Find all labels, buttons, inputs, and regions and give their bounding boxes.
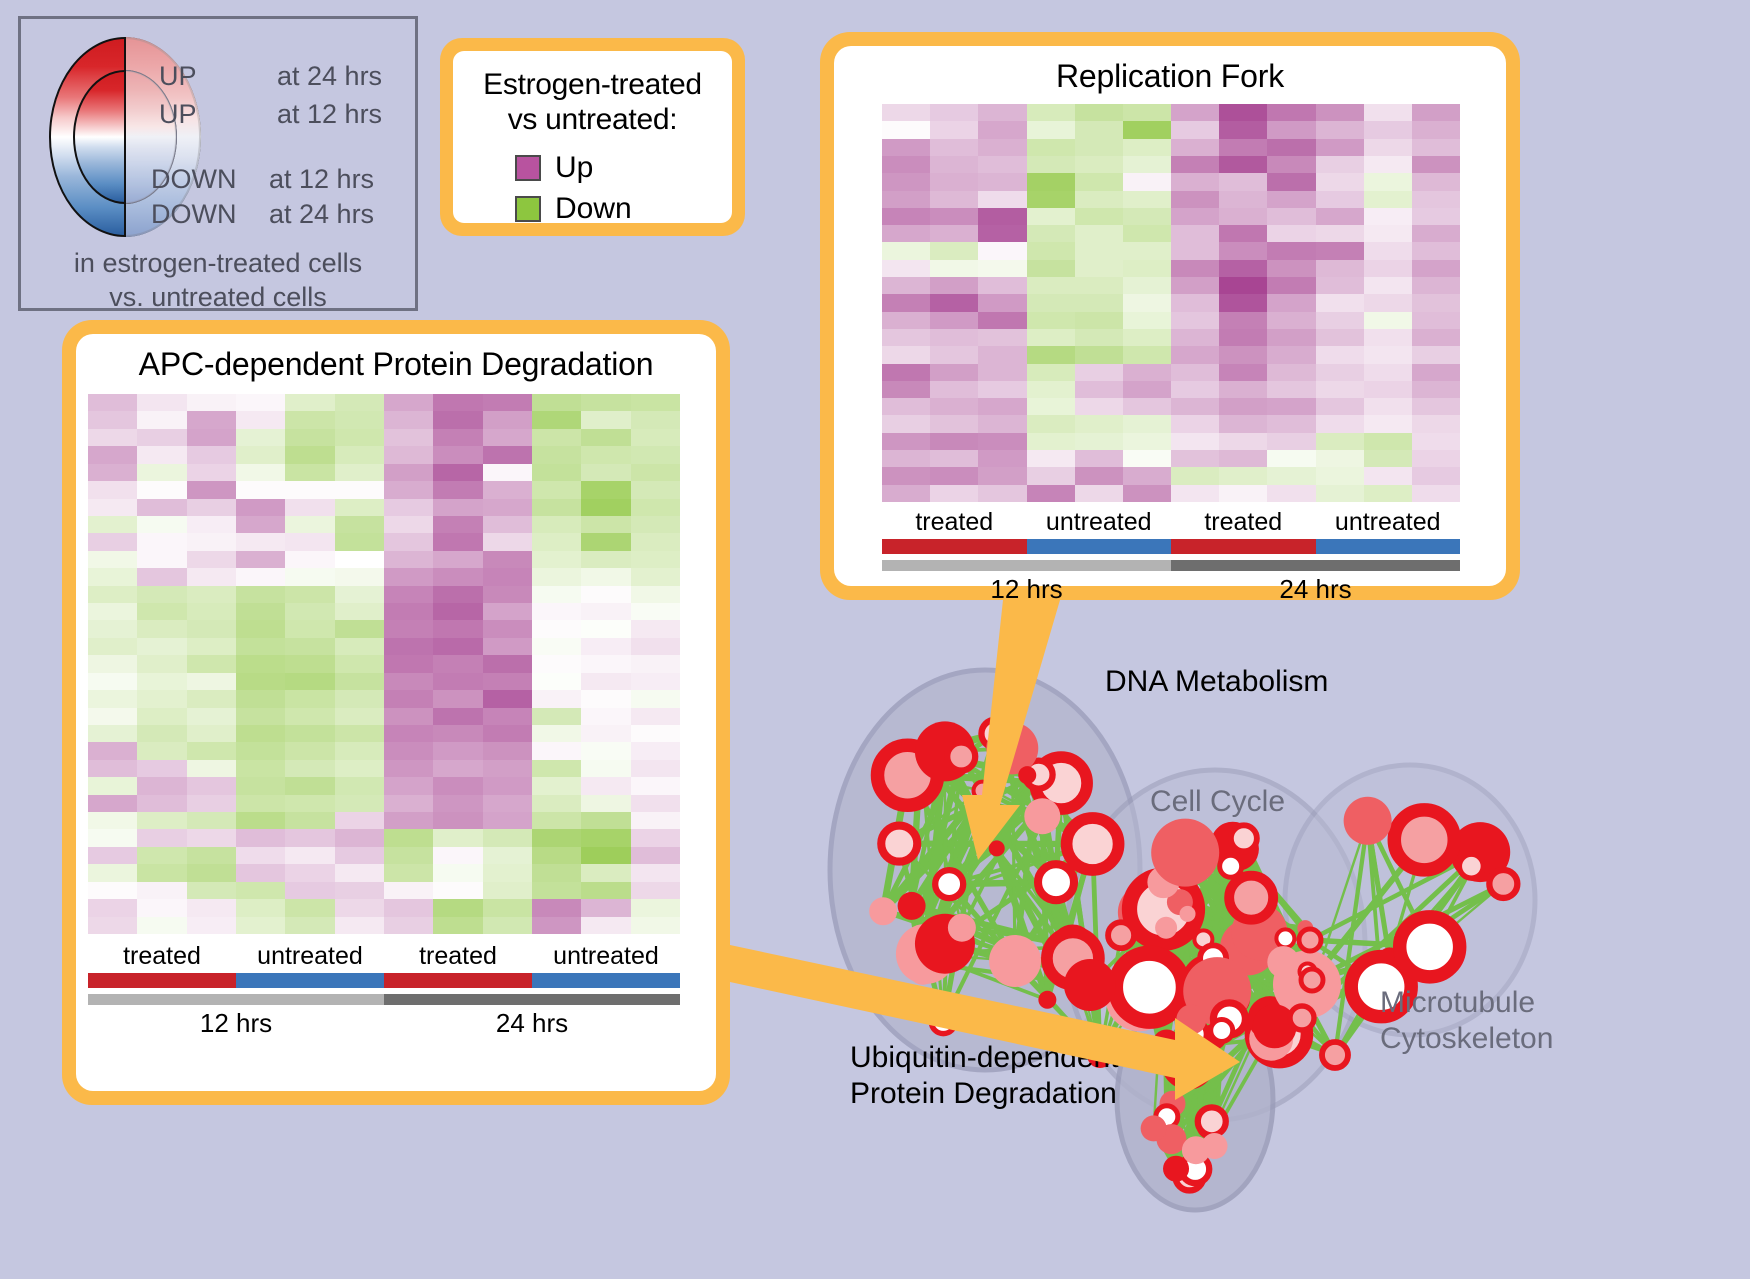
heatmap-cell — [384, 464, 433, 481]
heatmap-cell — [1412, 139, 1460, 156]
heatmap-cell — [384, 620, 433, 637]
cluster-label-cell-cycle: Cell Cycle — [1150, 785, 1285, 819]
heatmap-cell — [1364, 104, 1412, 121]
heatmap-cell — [88, 812, 137, 829]
heatmap-cell — [1412, 312, 1460, 329]
heatmap-cell — [1364, 139, 1412, 156]
heatmap-cell — [532, 446, 581, 463]
heatmap-cell — [1171, 450, 1219, 467]
heatmap-cell — [88, 742, 137, 759]
heatmap-cell — [631, 847, 680, 864]
heatmap-cell — [1171, 329, 1219, 346]
heatmap-cell — [187, 411, 236, 428]
heatmap-cell — [532, 568, 581, 585]
heatmap-cell — [1027, 242, 1075, 259]
heatmap-cell — [285, 551, 334, 568]
heatmap-cell — [978, 156, 1026, 173]
network-node[interactable] — [1400, 917, 1460, 977]
heatmap-cell — [384, 655, 433, 672]
heatmap-cell — [930, 415, 978, 432]
heatmap-cell — [137, 533, 186, 550]
heatmap-cell — [137, 411, 186, 428]
sample-label: untreated — [1027, 508, 1172, 537]
heatmap-cell — [532, 411, 581, 428]
heatmap-cell — [137, 725, 186, 742]
heatmap-cell — [1219, 329, 1267, 346]
heatmap-cell — [187, 777, 236, 794]
heatmap-cell — [433, 516, 482, 533]
heatmap-cell — [236, 411, 285, 428]
time-colorbar — [882, 560, 1460, 571]
heatmap-cell — [1412, 294, 1460, 311]
heatmap-cell — [1075, 450, 1123, 467]
network-node[interactable] — [1301, 969, 1323, 991]
heatmap-cell — [285, 708, 334, 725]
heatmap-cell — [1316, 467, 1364, 484]
network-node[interactable] — [1155, 917, 1177, 939]
heatmap-cell — [483, 812, 532, 829]
heatmap-cell — [581, 394, 630, 411]
heatmap-cell — [978, 104, 1026, 121]
network-node[interactable] — [1018, 766, 1036, 784]
cluster-label-dna-metabolism: DNA Metabolism — [1105, 665, 1328, 699]
heatmap-cell — [532, 690, 581, 707]
heatmap-cell — [1075, 121, 1123, 138]
network-node[interactable] — [1038, 991, 1056, 1009]
heatmap-cell — [1364, 433, 1412, 450]
heatmap-cell — [433, 464, 482, 481]
colorwheel-divider — [124, 37, 126, 237]
heatmap-cell — [532, 655, 581, 672]
heatmap-cell — [137, 795, 186, 812]
network-node[interactable] — [1141, 1115, 1167, 1141]
heatmap-cell — [978, 277, 1026, 294]
heatmap-cell — [1123, 121, 1171, 138]
heatmap-cell — [1171, 225, 1219, 242]
heatmap-cell — [1219, 242, 1267, 259]
heatmap-cell — [930, 346, 978, 363]
updown-key-inner: Estrogen-treated vs untreated: Up Down — [453, 51, 732, 223]
heatmap-cell — [581, 533, 630, 550]
heatmap-cell — [978, 364, 1026, 381]
cluster-label-line1: Microtubule — [1380, 985, 1553, 1021]
network-node[interactable] — [947, 743, 975, 771]
heatmap-cell — [631, 429, 680, 446]
heatmap-cell — [1364, 398, 1412, 415]
network-node[interactable] — [1229, 876, 1273, 920]
heatmap-cell — [433, 481, 482, 498]
heatmap-cell — [137, 620, 186, 637]
heatmap-cell — [1075, 346, 1123, 363]
heatmap-cell — [433, 829, 482, 846]
heatmap-cell — [384, 795, 433, 812]
network-node[interactable] — [948, 914, 976, 942]
heatmap-cell — [137, 673, 186, 690]
network-node[interactable] — [1108, 922, 1134, 948]
heatmap-cell — [581, 464, 630, 481]
heatmap-cell — [88, 568, 137, 585]
heatmap-cell — [335, 795, 384, 812]
heatmap-cell — [285, 673, 334, 690]
time-colorbar — [88, 994, 680, 1005]
heatmap-cell — [88, 847, 137, 864]
heatmap-cell — [335, 586, 384, 603]
heatmap-cell — [483, 847, 532, 864]
heatmap-cell — [137, 586, 186, 603]
heatmap-cell — [433, 742, 482, 759]
heatmap-cell — [1364, 294, 1412, 311]
colormap-legend-box: UPat 24 hrs UPat 12 hrs DOWNat 12 hrs DO… — [18, 16, 418, 311]
heatmap-cell — [1219, 260, 1267, 277]
heatmap-cell — [88, 638, 137, 655]
heatmap-cell — [882, 364, 930, 381]
heatmap-cell — [978, 381, 1026, 398]
heatmap-cell — [532, 829, 581, 846]
heatmap-cell — [88, 551, 137, 568]
heatmap-cell — [581, 603, 630, 620]
heatmap-cell — [930, 381, 978, 398]
network-node[interactable] — [1344, 797, 1392, 845]
heatmap-cell — [1027, 294, 1075, 311]
network-node[interactable] — [1163, 1156, 1189, 1182]
heatmap-cell — [1316, 415, 1364, 432]
heatmap-cell — [1364, 156, 1412, 173]
heatmap-cell — [285, 516, 334, 533]
network-node[interactable] — [974, 782, 992, 800]
network-node[interactable] — [931, 1010, 955, 1034]
heatmap-cell — [978, 294, 1026, 311]
heatmap-cell — [532, 777, 581, 794]
heatmap-cell — [1267, 121, 1315, 138]
heatmap-cell — [88, 499, 137, 516]
heatmap-cell — [1219, 294, 1267, 311]
heatmap-cell — [433, 882, 482, 899]
heatmap-cell — [1171, 260, 1219, 277]
network-node[interactable] — [1231, 825, 1257, 851]
heatmap-cell — [882, 277, 930, 294]
heatmap-cell — [335, 533, 384, 550]
heatmap-cell — [532, 725, 581, 742]
colormap-row-down-12: DOWNat 12 hrs — [151, 164, 374, 195]
heatmap-cell — [882, 329, 930, 346]
heatmap-cell — [335, 568, 384, 585]
network-node[interactable] — [1024, 798, 1060, 834]
heatmap-cell — [1027, 104, 1075, 121]
heatmap-cell — [532, 464, 581, 481]
network-node[interactable] — [1276, 929, 1294, 947]
heatmap-cell — [1075, 312, 1123, 329]
heatmap-cell — [882, 242, 930, 259]
heatmap-cell — [631, 690, 680, 707]
heatmap-cell — [1075, 364, 1123, 381]
heatmap-cell — [335, 812, 384, 829]
network-node[interactable] — [1267, 946, 1299, 978]
heatmap-cell — [335, 481, 384, 498]
heatmap-cell — [631, 829, 680, 846]
heatmap-cell — [631, 725, 680, 742]
heatmap-cell — [137, 690, 186, 707]
heatmap-cell — [978, 450, 1026, 467]
heatmap-cell — [1171, 173, 1219, 190]
network-node[interactable] — [1299, 929, 1321, 951]
heatmap-cell — [433, 429, 482, 446]
heatmap-cell — [532, 481, 581, 498]
heatmap-cell — [483, 655, 532, 672]
heatmap-cell — [433, 708, 482, 725]
heatmap-cell — [1316, 191, 1364, 208]
heatmap-cell — [581, 673, 630, 690]
heatmap-cell — [1171, 433, 1219, 450]
heatmap-cell — [1075, 277, 1123, 294]
heatmap-cell — [384, 499, 433, 516]
heatmap-cell — [1123, 156, 1171, 173]
heatmap-cell — [1219, 485, 1267, 502]
heatmap-apc-degradation — [88, 394, 680, 934]
heatmap-cell — [631, 655, 680, 672]
heatmap-cell — [631, 533, 680, 550]
heatmap-cell — [1219, 364, 1267, 381]
heatmap-cell — [631, 777, 680, 794]
heatmap-cell — [882, 139, 930, 156]
heatmap-cell — [483, 673, 532, 690]
heatmap-cell — [384, 899, 433, 916]
heatmap-cell — [384, 882, 433, 899]
network-node[interactable] — [881, 826, 917, 862]
heatmap-cell — [433, 690, 482, 707]
heatmap-cell — [581, 760, 630, 777]
heatmap-cell — [1412, 346, 1460, 363]
heatmap-cell — [581, 882, 630, 899]
network-node[interactable] — [1151, 819, 1219, 887]
network-node[interactable] — [1176, 1005, 1206, 1035]
heatmap-cell — [285, 638, 334, 655]
network-node[interactable] — [1180, 906, 1196, 922]
sample-colorbar-segment — [882, 539, 1027, 554]
colormap-footer-line1: in estrogen-treated cells — [21, 247, 415, 281]
heatmap-cell — [581, 586, 630, 603]
panel-replication-fork-title: Replication Fork — [834, 46, 1506, 95]
heatmap-cell — [88, 760, 137, 777]
heatmap-cell — [285, 899, 334, 916]
heatmap-cell — [882, 121, 930, 138]
network-node[interactable] — [899, 951, 919, 971]
heatmap-cell — [236, 603, 285, 620]
panel-apc-degradation-inner: APC-dependent Protein Degradation treate… — [76, 334, 716, 1091]
heatmap-cell — [1219, 277, 1267, 294]
heatmap-cell — [285, 603, 334, 620]
heatmap-cell — [1027, 346, 1075, 363]
heatmap-cell — [930, 329, 978, 346]
heatmap-cell — [581, 690, 630, 707]
heatmap-cell — [1364, 485, 1412, 502]
heatmap-cell — [1219, 156, 1267, 173]
heatmap-cell — [1219, 398, 1267, 415]
heatmap-cell — [1267, 467, 1315, 484]
network-node[interactable] — [1211, 1019, 1233, 1041]
network-node[interactable] — [989, 935, 1041, 987]
heatmap-cell — [1412, 485, 1460, 502]
heatmap-cell — [631, 882, 680, 899]
heatmap-cell — [1171, 139, 1219, 156]
heatmap-cell — [1219, 139, 1267, 156]
heatmap-cell — [1316, 121, 1364, 138]
heatmap-cell — [1364, 242, 1412, 259]
down-label: Down — [555, 192, 632, 226]
heatmap-cell — [335, 673, 384, 690]
heatmap-cell — [1123, 485, 1171, 502]
heatmap-cell — [483, 516, 532, 533]
heatmap-cell — [1171, 485, 1219, 502]
heatmap-cell — [1171, 364, 1219, 381]
heatmap-cell — [581, 446, 630, 463]
network-node[interactable] — [1115, 953, 1183, 1021]
network-node[interactable] — [986, 722, 1038, 774]
heatmap-cell — [187, 620, 236, 637]
heatmap-cell — [285, 446, 334, 463]
heatmap-cell — [137, 551, 186, 568]
heatmap-cell — [285, 620, 334, 637]
network-node[interactable] — [898, 892, 926, 920]
heatmap-cell — [1027, 312, 1075, 329]
heatmap-cell — [1219, 104, 1267, 121]
network-node[interactable] — [1290, 1006, 1314, 1030]
heatmap-cell — [137, 864, 186, 881]
heatmap-cell — [631, 568, 680, 585]
heatmap-cell — [1316, 312, 1364, 329]
heatmap-cell — [335, 847, 384, 864]
network-node[interactable] — [869, 897, 897, 925]
heatmap-cell — [1412, 173, 1460, 190]
heatmap-cell — [1219, 467, 1267, 484]
heatmap-cell — [1364, 173, 1412, 190]
network-node[interactable] — [1220, 855, 1242, 877]
heatmap-cell — [187, 742, 236, 759]
cluster-label-line1: Ubiquitin-dependent — [850, 1040, 1119, 1076]
heatmap-cell — [930, 208, 978, 225]
heatmap-cell — [930, 173, 978, 190]
heatmap-cell — [1027, 381, 1075, 398]
heatmap-cell — [187, 446, 236, 463]
heatmap-cell — [1075, 260, 1123, 277]
heatmap-cell — [1316, 381, 1364, 398]
network-node[interactable] — [1322, 1042, 1348, 1068]
network-node[interactable] — [1394, 810, 1454, 870]
heatmap-cell — [236, 568, 285, 585]
heatmap-cell — [335, 777, 384, 794]
network-node[interactable] — [1067, 818, 1119, 870]
heatmap-cell — [930, 433, 978, 450]
heatmap-cell — [1171, 208, 1219, 225]
heatmap-replication-fork — [882, 104, 1460, 502]
heatmap-cell — [882, 294, 930, 311]
heatmap-cell — [1123, 381, 1171, 398]
heatmap-cell — [236, 394, 285, 411]
heatmap-cell — [882, 312, 930, 329]
heatmap-cell — [187, 516, 236, 533]
heatmap-cell — [335, 551, 384, 568]
heatmap-cell — [1316, 173, 1364, 190]
heatmap-cell — [631, 586, 680, 603]
network-node[interactable] — [1459, 854, 1483, 878]
heatmap-cell — [978, 191, 1026, 208]
heatmap-cell — [1267, 173, 1315, 190]
heatmap-cell — [88, 516, 137, 533]
heatmap-cell — [483, 725, 532, 742]
heatmap-cell — [1075, 415, 1123, 432]
heatmap-cell — [1267, 277, 1315, 294]
heatmap-cell — [1027, 415, 1075, 432]
heatmap-cell — [433, 603, 482, 620]
heatmap-cell — [631, 603, 680, 620]
heatmap-cell — [335, 446, 384, 463]
heatmap-cell — [1267, 364, 1315, 381]
heatmap-cell — [236, 638, 285, 655]
heatmap-cell — [137, 760, 186, 777]
heatmap-cell — [384, 673, 433, 690]
heatmap-cell — [581, 429, 630, 446]
heatmap-cell — [1219, 381, 1267, 398]
heatmap-cell — [1123, 208, 1171, 225]
heatmap-cell — [187, 690, 236, 707]
heatmap-cell — [285, 394, 334, 411]
heatmap-cell — [483, 411, 532, 428]
heatmap-cell — [384, 742, 433, 759]
heatmap-cell — [1075, 225, 1123, 242]
heatmap-cell — [631, 795, 680, 812]
heatmap-cell — [187, 899, 236, 916]
heatmap-cell — [384, 411, 433, 428]
heatmap-cell — [581, 899, 630, 916]
heatmap-cell — [335, 899, 384, 916]
heatmap-cell — [1075, 294, 1123, 311]
heatmap-cell — [335, 603, 384, 620]
network-node[interactable] — [1198, 1107, 1226, 1135]
heatmap-cell — [1267, 398, 1315, 415]
heatmap-cell — [631, 760, 680, 777]
time-labels: 12 hrs 24 hrs — [88, 1008, 680, 1039]
heatmap-cell — [433, 795, 482, 812]
heatmap-cell — [137, 812, 186, 829]
network-node[interactable] — [935, 870, 963, 898]
heatmap-cell — [1075, 433, 1123, 450]
heatmap-cell — [882, 433, 930, 450]
network-node[interactable] — [989, 840, 1005, 856]
axis-apc-degradation: treated untreated treated untreated 12 h… — [88, 942, 680, 1039]
updown-key-title-line1: Estrogen-treated — [453, 67, 732, 102]
network-node[interactable] — [1064, 959, 1116, 1011]
heatmap-cell — [285, 864, 334, 881]
heatmap-cell — [483, 586, 532, 603]
network-node[interactable] — [1038, 864, 1074, 900]
heatmap-cell — [631, 551, 680, 568]
heatmap-cell — [978, 208, 1026, 225]
heatmap-cell — [1412, 208, 1460, 225]
heatmap-cell — [1123, 294, 1171, 311]
heatmap-cell — [1027, 208, 1075, 225]
network-node[interactable] — [1489, 870, 1517, 898]
heatmap-cell — [187, 812, 236, 829]
heatmap-cell — [236, 464, 285, 481]
network-node[interactable] — [1182, 1136, 1210, 1164]
heatmap-cell — [335, 499, 384, 516]
heatmap-cell — [1123, 329, 1171, 346]
heatmap-cell — [1316, 225, 1364, 242]
heatmap-cell — [581, 795, 630, 812]
heatmap-cell — [1364, 415, 1412, 432]
cluster-label-line2: Protein Degradation — [850, 1076, 1119, 1112]
heatmap-cell — [1027, 121, 1075, 138]
heatmap-cell — [335, 620, 384, 637]
